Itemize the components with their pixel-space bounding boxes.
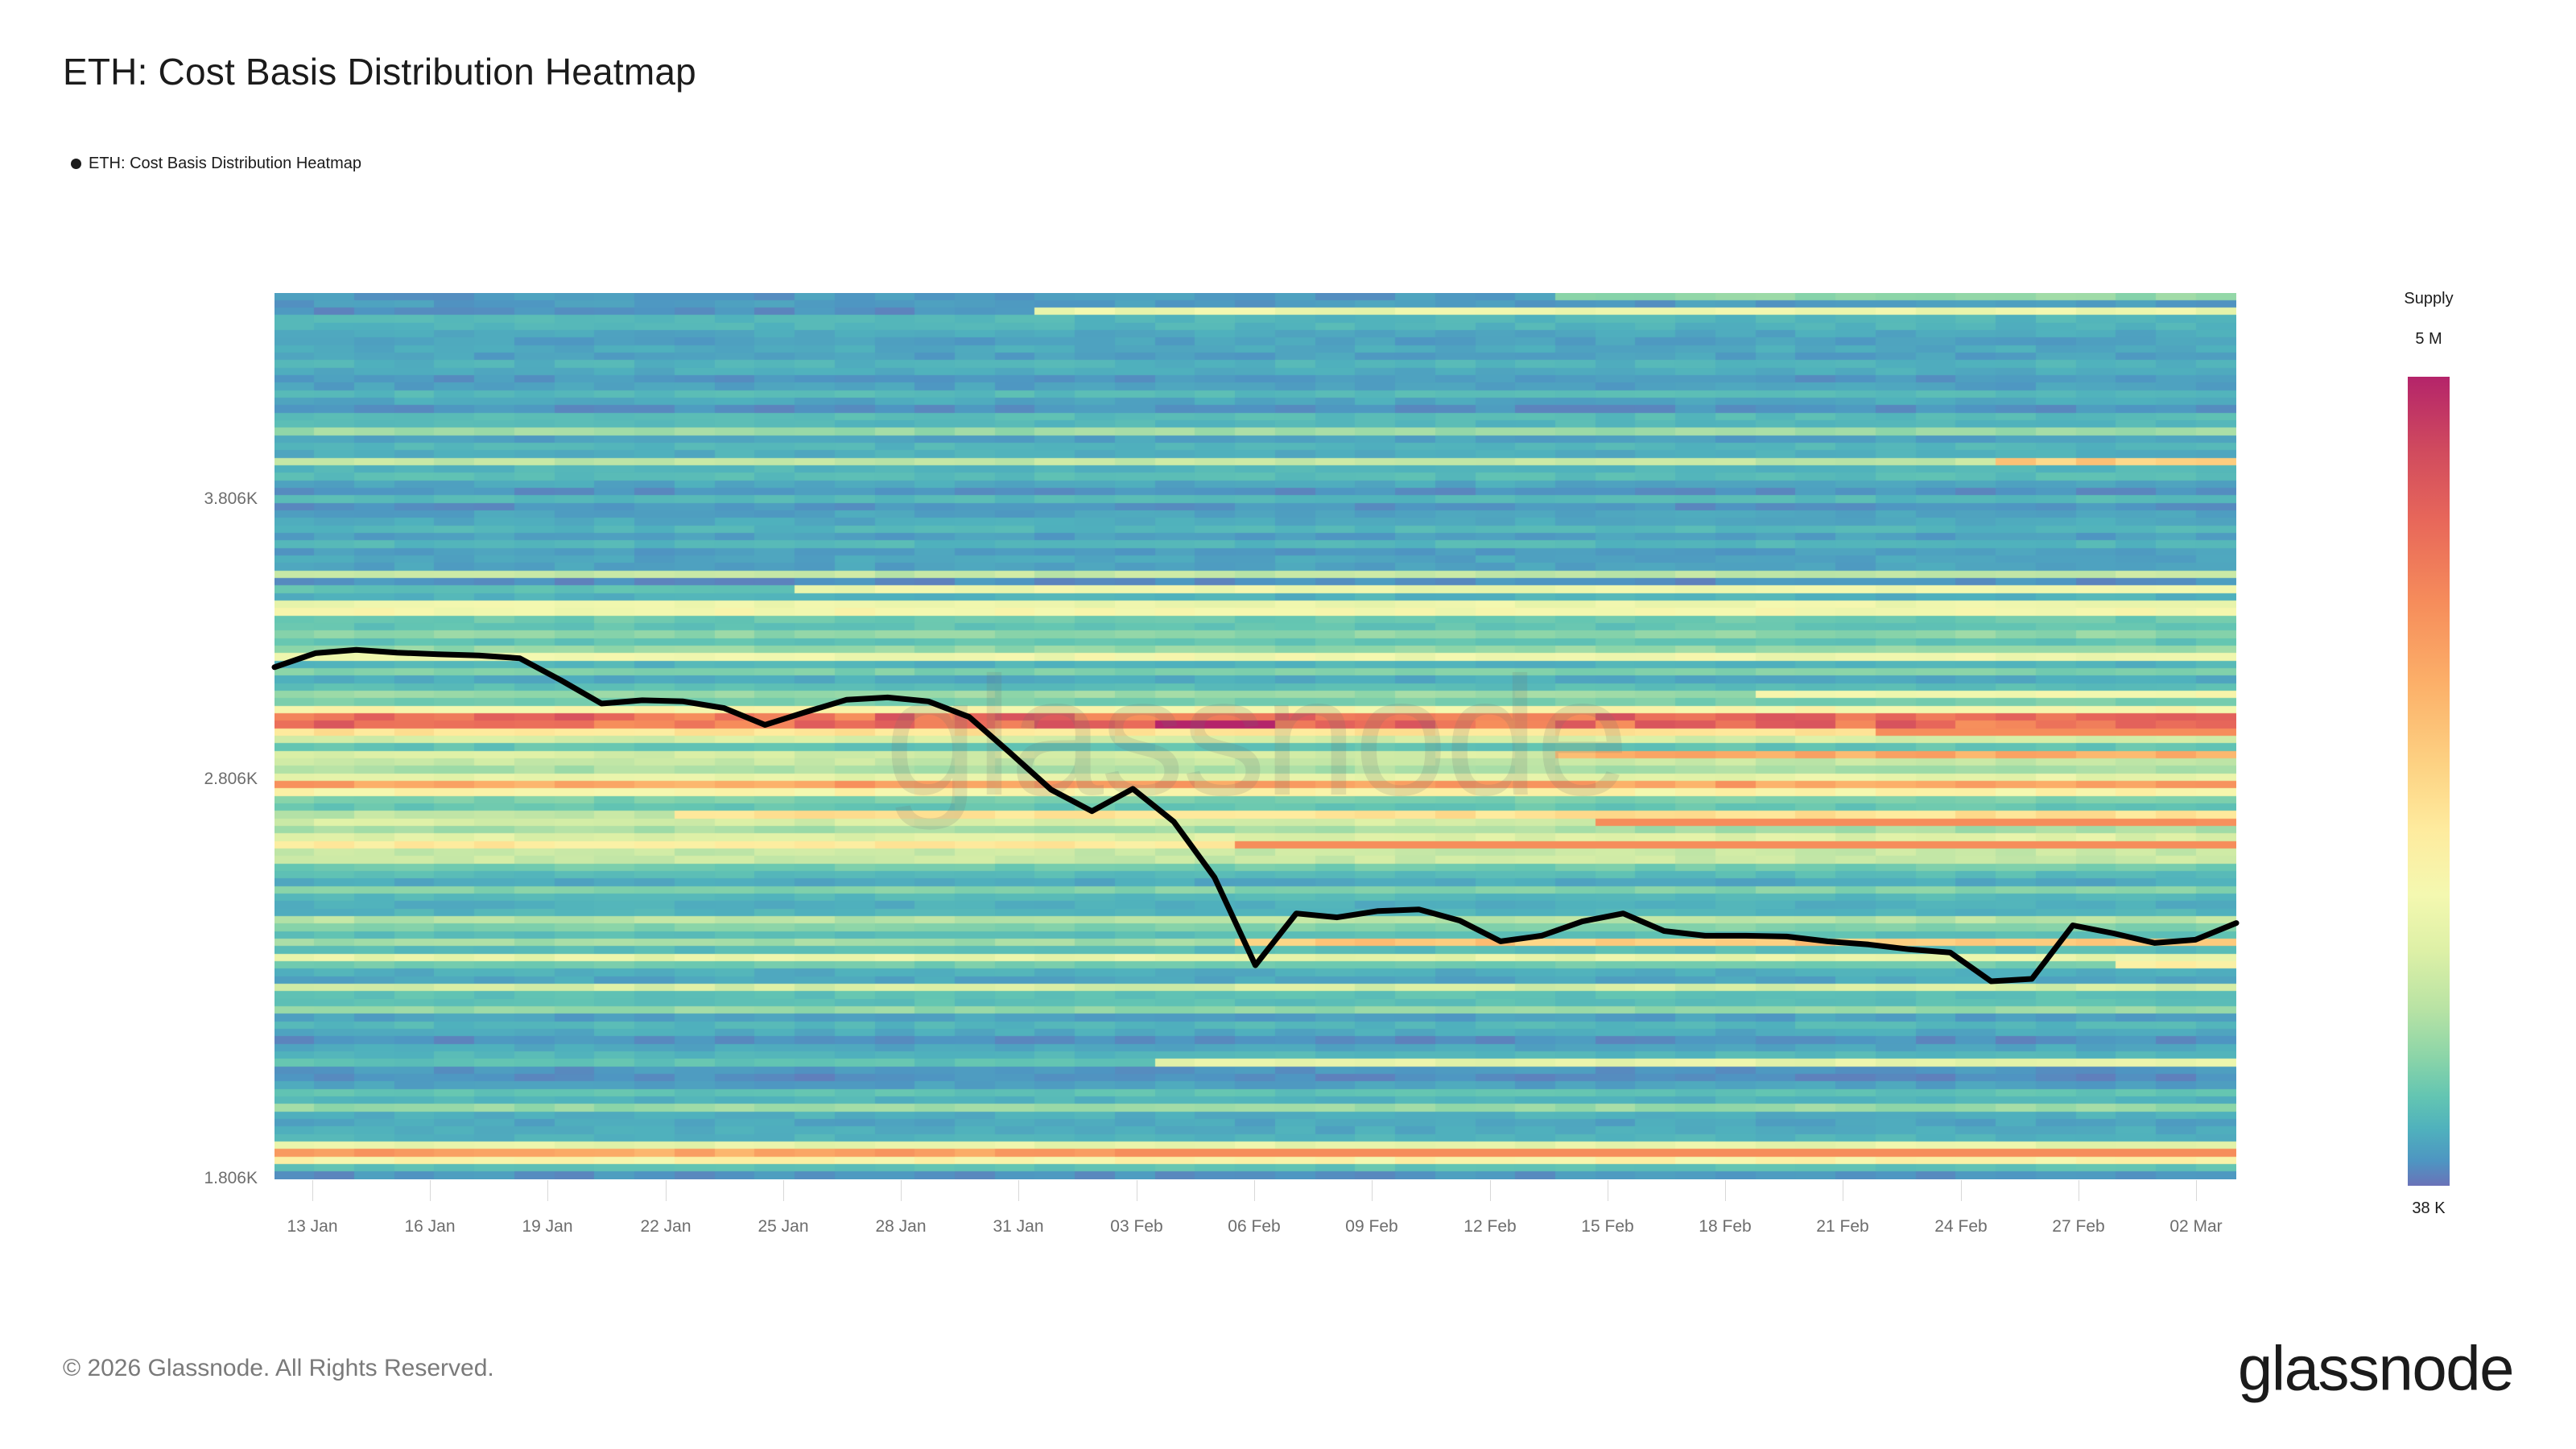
x-tick-mark: [901, 1180, 902, 1201]
x-tick-mark: [312, 1180, 313, 1201]
colorbar-gradient: [2408, 377, 2450, 1186]
x-tick-label: 21 Feb: [1816, 1217, 1868, 1236]
chart-page: ETH: Cost Basis Distribution Heatmap ETH…: [0, 0, 2576, 1449]
x-tick-mark: [2079, 1180, 2079, 1201]
colorbar-title: Supply: [2404, 290, 2453, 308]
x-tick-mark: [1843, 1180, 1843, 1201]
colorbar-max-label: 5 M: [2415, 330, 2442, 349]
colorbar-min-label: 38 K: [2412, 1199, 2445, 1218]
x-tick-mark: [1961, 1180, 1962, 1201]
x-tick-mark: [2196, 1180, 2197, 1201]
x-tick-label: 02 Mar: [2169, 1217, 2222, 1236]
x-tick-label: 24 Feb: [1934, 1217, 1987, 1236]
x-tick-label: 06 Feb: [1228, 1217, 1280, 1236]
footer-copyright: © 2026 Glassnode. All Rights Reserved.: [63, 1355, 494, 1382]
footer-divider: [0, 1317, 2576, 1318]
x-tick-label: 15 Feb: [1581, 1217, 1633, 1236]
x-tick-label: 27 Feb: [2052, 1217, 2104, 1236]
brand-logo: glassnode: [2238, 1332, 2513, 1406]
x-tick-label: 25 Jan: [758, 1217, 808, 1236]
x-axis: 13 Jan16 Jan19 Jan22 Jan25 Jan28 Jan31 J…: [0, 0, 2576, 1449]
x-tick-mark: [1137, 1180, 1137, 1201]
x-tick-mark: [430, 1180, 431, 1201]
x-tick-label: 22 Jan: [640, 1217, 691, 1236]
x-tick-label: 13 Jan: [287, 1217, 337, 1236]
x-tick-mark: [1608, 1180, 1608, 1201]
x-tick-label: 28 Jan: [875, 1217, 926, 1236]
x-tick-mark: [1018, 1180, 1019, 1201]
x-tick-label: 18 Feb: [1699, 1217, 1751, 1236]
x-tick-mark: [666, 1180, 667, 1201]
x-tick-label: 09 Feb: [1345, 1217, 1397, 1236]
x-tick-label: 16 Jan: [404, 1217, 455, 1236]
x-tick-mark: [1372, 1180, 1373, 1201]
x-tick-label: 19 Jan: [522, 1217, 572, 1236]
x-tick-mark: [1254, 1180, 1255, 1201]
x-tick-mark: [547, 1180, 548, 1201]
x-tick-label: 12 Feb: [1463, 1217, 1516, 1236]
x-tick-mark: [1725, 1180, 1726, 1201]
x-tick-mark: [1490, 1180, 1491, 1201]
x-tick-label: 31 Jan: [993, 1217, 1043, 1236]
x-tick-mark: [783, 1180, 784, 1201]
x-tick-label: 03 Feb: [1110, 1217, 1162, 1236]
